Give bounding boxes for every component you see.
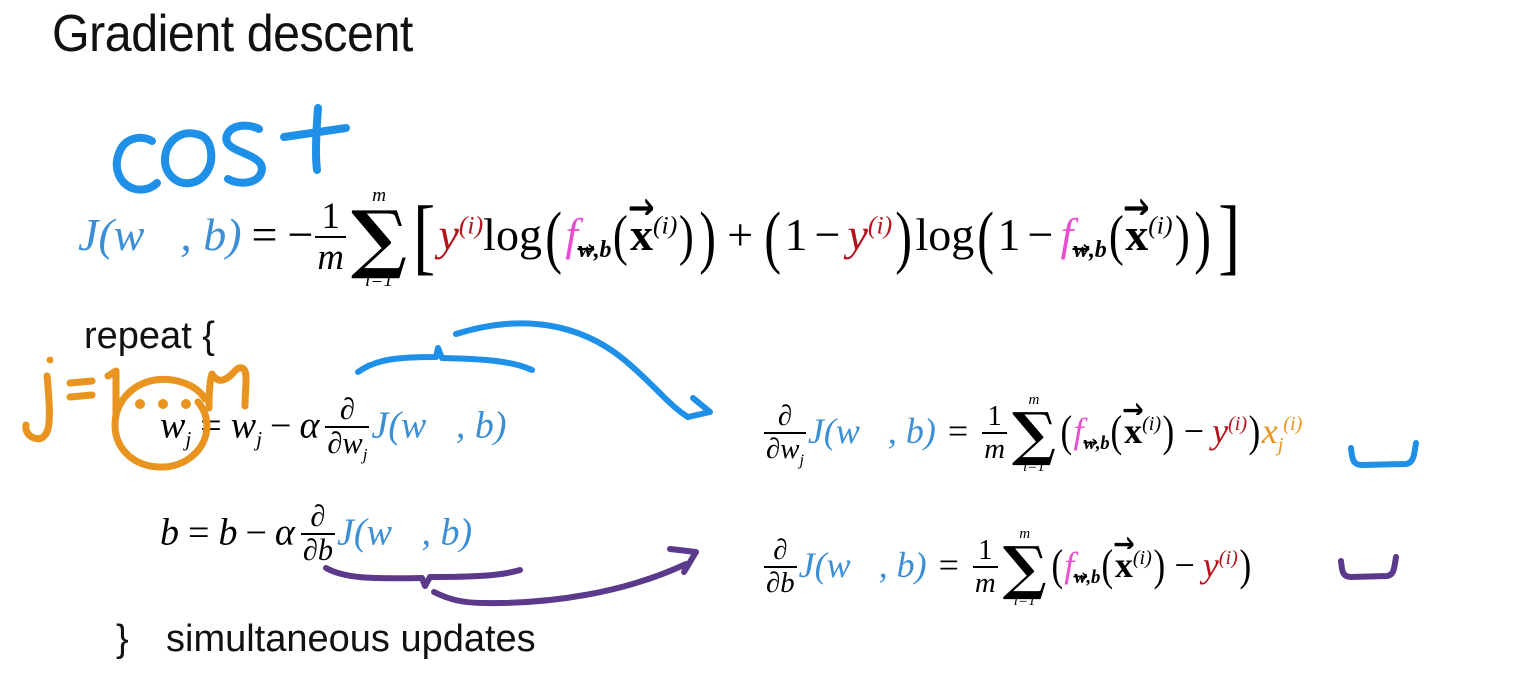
x-superscript-2: (i) — [1148, 211, 1172, 240]
minus-sign-2: − — [1028, 209, 1054, 260]
b-lhs: b — [160, 512, 179, 554]
b-update-equation: b=b−α ∂ ∂b J(w⃗, b) — [160, 503, 472, 569]
y-term-2: y — [847, 209, 867, 260]
w-equals: = — [200, 405, 221, 447]
w-lhs: w — [160, 405, 185, 447]
paren-open-3b: ( — [1108, 214, 1123, 259]
dw-y-symbol: y — [1212, 411, 1228, 451]
dw-x-sup: (i) — [1142, 413, 1161, 435]
db-cost-J: J(w⃗, b) — [799, 545, 927, 585]
w-lhs-sub: j — [185, 427, 191, 451]
w-rhs: w — [231, 405, 256, 447]
dw-partial-fraction: ∂ ∂wj — [764, 401, 806, 463]
dw-trailing-x-sup: (i) — [1283, 413, 1302, 435]
paren-open-3: ( — [978, 213, 995, 263]
one-literal: 1 — [785, 209, 808, 260]
dw-y-sup: (i) — [1228, 413, 1247, 435]
db-x-sup: (i) — [1133, 547, 1152, 569]
minus-sign-1: − — [815, 209, 841, 260]
b-partial-fraction: ∂ ∂b — [301, 501, 335, 567]
paren-close-3b: ) — [1174, 214, 1189, 259]
log-2: log — [915, 209, 974, 260]
open-bracket: [ — [413, 207, 435, 267]
dw-paren-open-2: ( — [1111, 414, 1123, 449]
db-minus: − — [1174, 545, 1194, 585]
cost-minus-sign: − — [287, 209, 313, 260]
db-x-symbol: x — [1115, 545, 1133, 585]
repeat-label: repeat { — [84, 317, 215, 355]
x-superscript-1: (i) — [653, 211, 677, 240]
dJ-db-equation: ∂ ∂b J(w⃗, b)= 1 m m ∑ i=1 (fw,b(x(i))−y… — [762, 527, 1252, 610]
dw-one-over-m: 1 m — [982, 401, 1007, 463]
w-partial-fraction: ∂ ∂wj — [325, 394, 369, 460]
dw-minus: − — [1184, 411, 1204, 451]
y-superscript-2: (i) — [868, 211, 892, 240]
w-minus: − — [270, 405, 291, 447]
w-partial-den: ∂wj — [325, 426, 369, 460]
paren-close-2: ) — [895, 213, 912, 263]
closing-brace: } — [116, 620, 129, 658]
dw-x-symbol: x — [1124, 411, 1142, 451]
w-cost-J: J(w⃗, b) — [371, 405, 506, 447]
paren-open-1: ( — [545, 213, 562, 263]
cost-label-ink — [117, 108, 346, 190]
cost-function-equation: J(w⃗, b)=− 1 m m ∑ i=1 [y(i)log(fw,b(x(i… — [78, 186, 1243, 293]
db-paren-open: ( — [1051, 548, 1063, 583]
b-rhs: b — [218, 512, 237, 554]
plus-sign: + — [727, 209, 753, 260]
dw-trailing-x-sub: j — [1278, 434, 1284, 456]
b-minus: − — [245, 512, 266, 554]
purple-underbrace-ink — [1341, 557, 1396, 577]
paren-open-2: ( — [764, 213, 781, 263]
db-one-over-m: 1 m — [973, 535, 998, 597]
paren-close-1: ) — [699, 213, 716, 263]
dJ-dw-equation: ∂ ∂wj J(w⃗, b)= 1 m m ∑ i=1 (fw,b(x(i))−… — [762, 393, 1302, 476]
db-f-subscript: w,b — [1074, 567, 1100, 588]
f-symbol-2: f — [1060, 209, 1073, 260]
dw-paren-close-2: ) — [1163, 414, 1175, 449]
dw-f-subscript: w,b — [1084, 433, 1110, 454]
db-summation: m ∑ i=1 — [1003, 526, 1047, 609]
dw-paren-close: ) — [1249, 414, 1261, 449]
x-symbol-2: x — [1125, 209, 1148, 260]
db-paren-close: ) — [1239, 548, 1251, 583]
y-superscript-1: (i) — [459, 211, 483, 240]
b-equals: = — [188, 512, 209, 554]
dw-cost-J: J(w⃗, b) — [808, 411, 936, 451]
blue-underbrace-ink — [1351, 443, 1416, 465]
dw-summation: m ∑ i=1 — [1012, 392, 1056, 475]
paren-close-3: ) — [1194, 213, 1211, 263]
db-paren-open-2: ( — [1102, 548, 1114, 583]
b-cost-J: J(w⃗, b) — [337, 512, 472, 554]
f-subscript-1: w,b — [578, 237, 611, 263]
w-rhs-sub: j — [256, 427, 262, 451]
w-alpha: α — [299, 405, 319, 447]
close-bracket: ] — [1218, 207, 1240, 267]
dw-partial-den: ∂wj — [764, 432, 806, 464]
page-title: Gradient descent — [52, 4, 413, 64]
one-over-m-fraction: 1 m — [315, 197, 346, 276]
dw-paren-open: ( — [1060, 414, 1072, 449]
x-symbol-1: x — [630, 209, 653, 260]
simultaneous-updates-note: simultaneous updates — [166, 620, 536, 658]
cost-J-symbol: J(w⃗, b) — [78, 209, 242, 260]
cost-equals: = — [252, 209, 278, 260]
one-literal-2: 1 — [998, 209, 1021, 260]
db-partial-fraction: ∂ ∂b — [764, 535, 797, 597]
db-y-sup: (i) — [1219, 547, 1238, 569]
f-subscript-2: w,b — [1073, 237, 1106, 263]
log-1: log — [483, 209, 542, 260]
db-paren-close-2: ) — [1153, 548, 1165, 583]
y-term-1: y — [438, 209, 458, 260]
db-equals: = — [939, 545, 959, 585]
paren-close-1b: ) — [679, 214, 694, 259]
summation-operator: m ∑ i=1 — [351, 185, 407, 292]
dw-trailing-x: x — [1262, 411, 1278, 451]
paren-open-1b: ( — [613, 214, 628, 259]
w-update-equation: wj=wj−α ∂ ∂wj J(w⃗, b) — [160, 396, 507, 462]
f-symbol-1: f — [565, 209, 578, 260]
dw-equals: = — [948, 411, 968, 451]
db-y-symbol: y — [1203, 545, 1219, 585]
b-alpha: α — [275, 512, 295, 554]
